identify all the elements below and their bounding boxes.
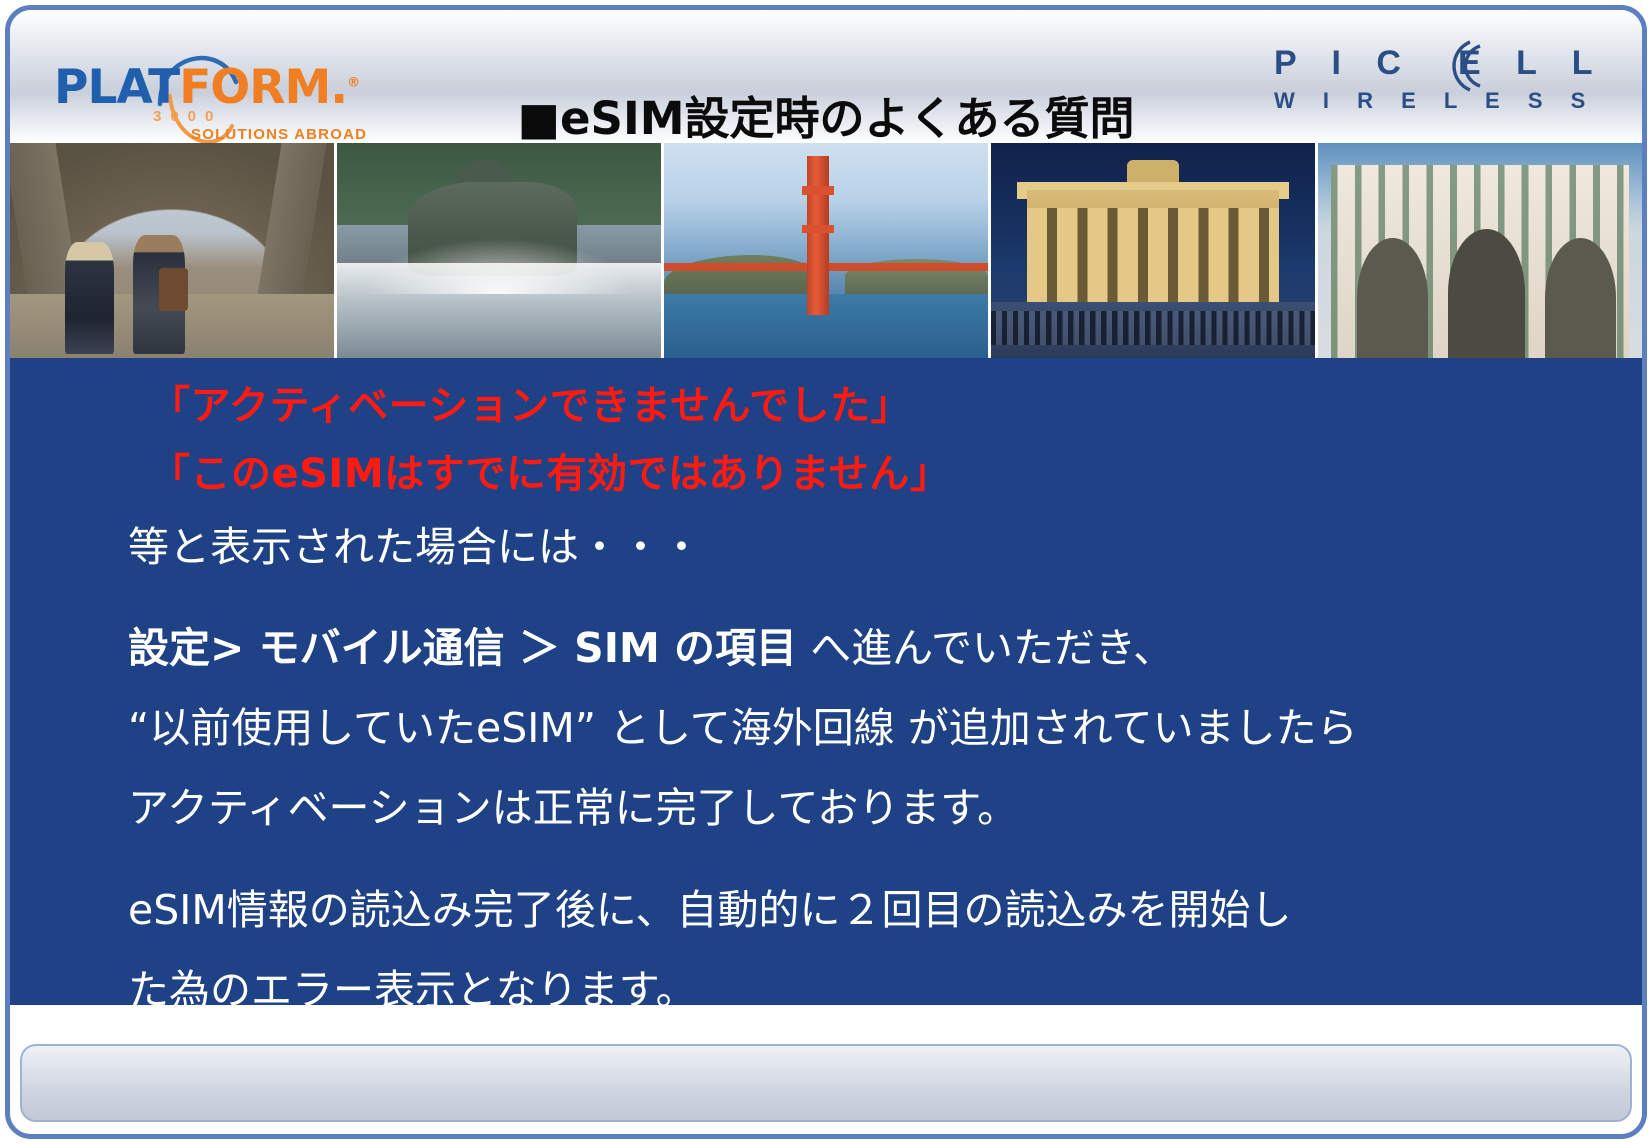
traveller-left bbox=[65, 242, 114, 354]
slide-header: PLATFORM.® 3000 SOLUTIONS ABROAD ■eSIM設定… bbox=[10, 10, 1642, 143]
settings-path-tail: へ進んでいただき、 bbox=[797, 624, 1174, 672]
error-quote-1: 「アクティベーションできませんでした」 bbox=[150, 373, 1647, 431]
gate-columns bbox=[1027, 208, 1280, 303]
backpack bbox=[159, 268, 188, 311]
intro-text: 等と表示された場合には・・・ bbox=[128, 513, 1647, 573]
slide-footer bbox=[10, 1005, 1642, 1134]
detail-line-1: “以前使用していたeSIM” として海外回線 が追加されていましたら bbox=[128, 694, 1647, 754]
signal-arcs-icon bbox=[1424, 38, 1494, 94]
slide-frame: PLATFORM.® 3000 SOLUTIONS ABROAD ■eSIM設定… bbox=[5, 5, 1647, 1139]
photo-florence-duomo bbox=[1318, 143, 1642, 358]
bridge-crossbar-lower bbox=[802, 225, 834, 234]
piccell-logo: P I CE L L W I R E L E S S bbox=[1274, 32, 1594, 122]
detail-line-2: アクティベーションは正常に完了しております。 bbox=[128, 774, 1647, 834]
duomo-arch-right bbox=[1545, 238, 1616, 358]
slide: PLATFORM.® 3000 SOLUTIONS ABROAD ■eSIM設定… bbox=[0, 0, 1652, 1144]
footer-bar bbox=[20, 1044, 1632, 1122]
content-panel: 「アクティベーションできませんでした」 「このeSIMはすでに有効ではありません… bbox=[10, 358, 1642, 1015]
duomo-arch-left bbox=[1357, 238, 1428, 358]
settings-path-line: 設定> モバイル通信 ＞ SIM の項目 へ進んでいただき、 bbox=[128, 614, 1647, 674]
fountain-spray bbox=[363, 238, 635, 294]
bridge-tower bbox=[807, 156, 830, 315]
duomo-arch-center bbox=[1448, 229, 1526, 358]
error-quote-2: 「このeSIMはすでに有効ではありません」 bbox=[150, 441, 1647, 499]
piccell-word-left: P I C bbox=[1274, 44, 1414, 82]
photo-brandenburg-gate bbox=[991, 143, 1318, 358]
gate-crowd bbox=[991, 311, 1315, 345]
note-line-1: eSIM情報の読込み完了後に、自動的に２回目の読込みを開始し bbox=[128, 876, 1647, 936]
bridge-crossbar-upper bbox=[802, 186, 834, 195]
photo-eiffel-tower bbox=[10, 143, 337, 358]
photo-strip bbox=[10, 143, 1642, 358]
settings-path: 設定> モバイル通信 ＞ SIM の項目 bbox=[128, 624, 797, 672]
photo-gefion-fountain bbox=[337, 143, 664, 358]
piccell-wordmark-row2: W I R E L E S S bbox=[1274, 88, 1594, 114]
photo-golden-gate-bridge bbox=[664, 143, 991, 358]
